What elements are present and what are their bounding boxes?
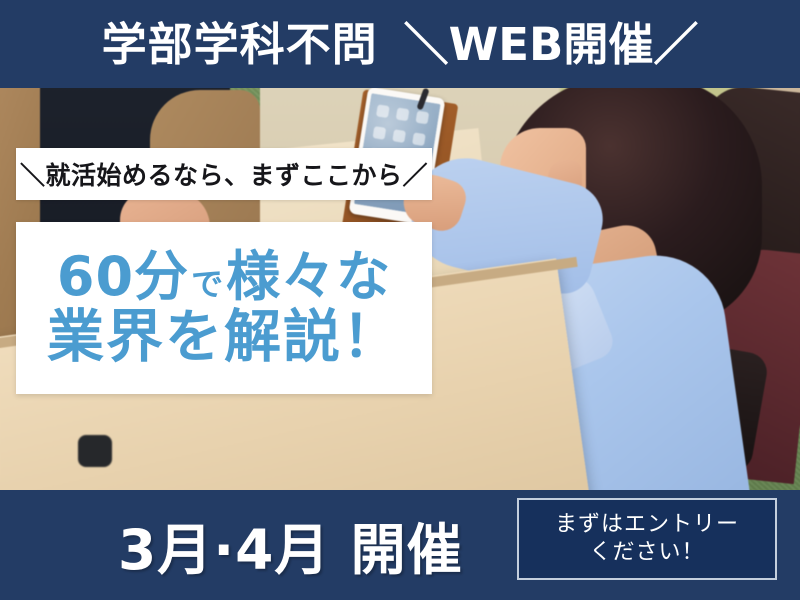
bottom-banner: 3月·4月 開催 まずはエントリー ください！ xyxy=(0,490,800,600)
headline-particle-de: で xyxy=(189,268,226,301)
subtitle-band: ＼就活始めるなら、まずここから／ xyxy=(16,148,432,200)
headline-duration: 60分 xyxy=(57,249,189,304)
header-banner: 学部学科不問 ＼WEB開催／ xyxy=(0,0,800,88)
headline-card: 60分 で 様々な 業界を解説！ xyxy=(16,222,432,394)
headline-line-2: 業界を解説！ xyxy=(47,308,401,366)
subtitle-text: ＼就活始めるなら、まずここから／ xyxy=(20,156,428,192)
cta-line-2: ください！ xyxy=(589,541,704,565)
entry-cta-button[interactable]: まずはエントリー ください！ xyxy=(517,498,777,580)
poster-root: 学部学科不問 ＼WEB開催／ ＼就活始めるなら、まずここから／ 60分 で 様々… xyxy=(0,0,800,600)
photo-table-leg xyxy=(78,435,112,467)
header-right-text: ＼WEB開催／ xyxy=(404,22,699,67)
header-left-text: 学部学科不問 xyxy=(102,22,378,67)
headline-line-1: 60分 で 様々な xyxy=(57,249,391,304)
headline-various: 様々な xyxy=(226,249,391,304)
event-date-text: 3月·4月 開催 xyxy=(118,505,463,585)
cta-line-1: まずはエントリー xyxy=(555,513,739,537)
